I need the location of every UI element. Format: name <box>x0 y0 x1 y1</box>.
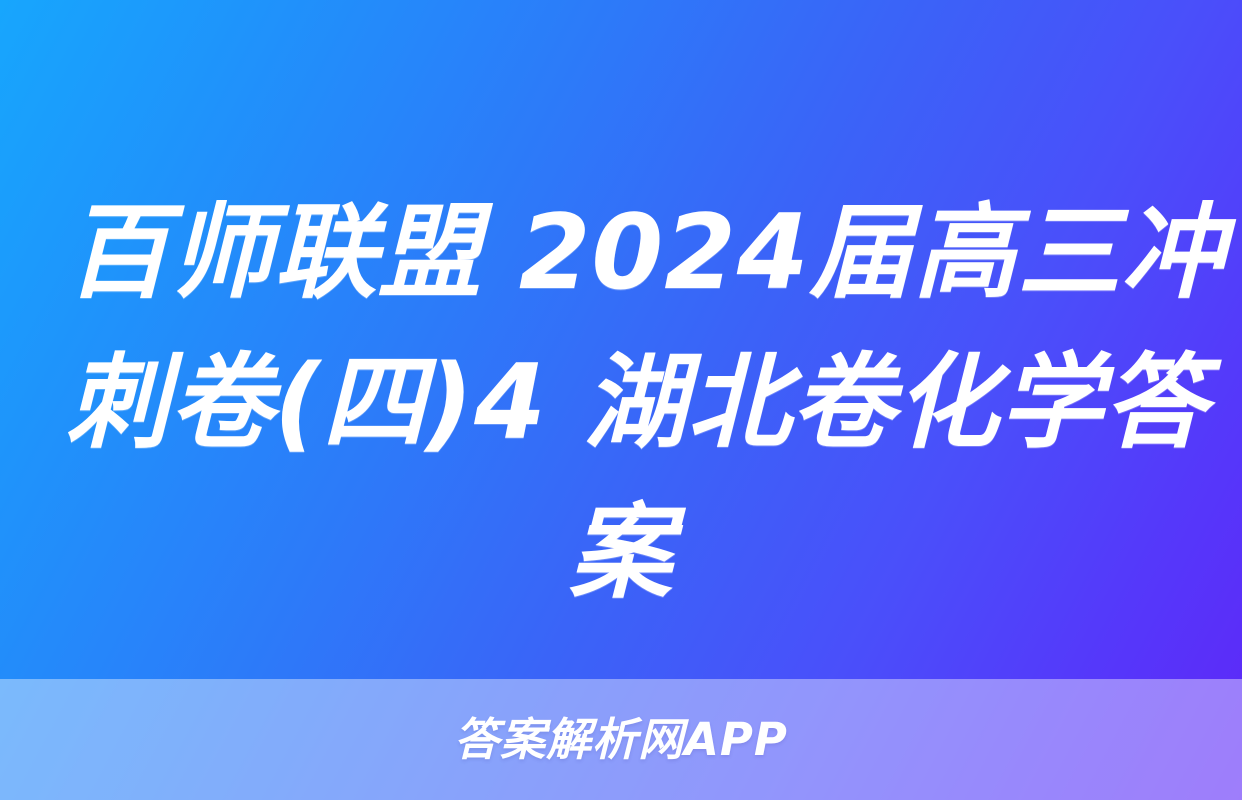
title-line-1: 百师联盟 2024届高三冲 <box>66 178 1176 328</box>
share-card: 百师联盟 2024届高三冲 刺卷(四)4 湖北卷化学答 案 答案解析网APP <box>0 0 1242 800</box>
app-watermark-label: 答案解析网APP <box>454 717 788 762</box>
footer-watermark-band: 答案解析网APP <box>0 679 1242 800</box>
title-line-3: 案 <box>66 478 1176 628</box>
page-title: 百师联盟 2024届高三冲 刺卷(四)4 湖北卷化学答 案 <box>66 178 1176 628</box>
title-line-2: 刺卷(四)4 湖北卷化学答 <box>66 328 1176 478</box>
